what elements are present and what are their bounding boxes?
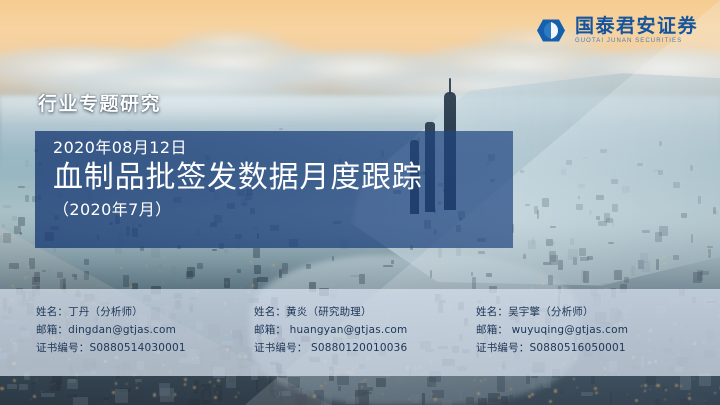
logo-text-en: GUOTAI JUNAN SECURITIES [575, 38, 698, 44]
company-logo: 国泰君安证券 GUOTAI JUNAN SECURITIES [536, 17, 698, 44]
author-name: 姓名：黄炎（研究助理） [254, 303, 472, 321]
report-category-label: 行业专题研究 [38, 89, 161, 116]
page-title: 血制品批签发数据月度跟踪 [53, 159, 513, 197]
author-block: 姓名：丁丹（分析师） 邮箱：dingdan@gtjas.com 证书编号：S08… [36, 303, 250, 376]
author-name: 姓名：吴宇擎（分析师） [476, 303, 706, 321]
author-block: 姓名：吴宇擎（分析师） 邮箱： wuyuqing@gtjas.com 证书编号：… [476, 303, 706, 376]
publication-date: 2020年08月12日 [53, 138, 513, 158]
author-name: 姓名：丁丹（分析师） [36, 303, 250, 321]
author-email[interactable]: 邮箱：dingdan@gtjas.com [36, 321, 250, 339]
hexagon-shield-logo-icon [536, 18, 566, 43]
author-cert: 证书编号：S0880516050001 [476, 339, 706, 357]
author-email[interactable]: 邮箱： wuyuqing@gtjas.com [476, 321, 706, 339]
authors-footer-band: 姓名：丁丹（分析师） 邮箱：dingdan@gtjas.com 证书编号：S08… [0, 289, 720, 376]
author-email[interactable]: 邮箱： huangyan@gtjas.com [254, 321, 472, 339]
author-cert: 证书编号：S0880514030001 [36, 339, 250, 357]
author-block: 姓名：黄炎（研究助理） 邮箱： huangyan@gtjas.com 证书编号：… [254, 303, 472, 376]
presentation-cover-slide: 国泰君安证券 GUOTAI JUNAN SECURITIES 行业专题研究 20… [0, 0, 720, 405]
logo-text-cn: 国泰君安证券 [575, 17, 698, 37]
page-subtitle: （2020年7月） [53, 200, 513, 221]
title-panel: 2020年08月12日 血制品批签发数据月度跟踪 （2020年7月） [35, 131, 513, 248]
author-cert: 证书编号： S0880120010036 [254, 339, 472, 357]
